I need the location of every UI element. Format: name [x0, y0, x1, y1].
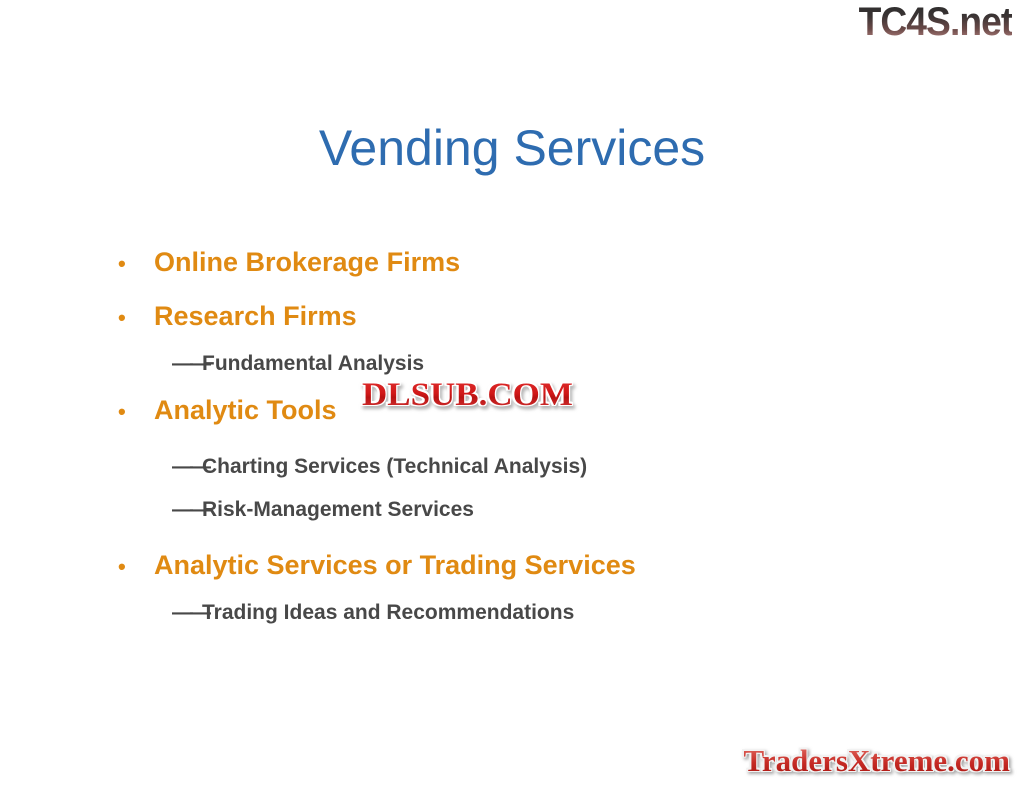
- list-item-label: Charting Services (Technical Analysis): [202, 445, 587, 488]
- bullet-dot-icon: •: [118, 386, 154, 437]
- list-item: • Analytic Services or Trading Services: [118, 540, 918, 591]
- list-item: —— Trading Ideas and Recommendations: [118, 591, 918, 634]
- bullet-dash-icon: ——: [172, 591, 202, 634]
- list-item-label: Trading Ideas and Recommendations: [202, 591, 574, 634]
- list-item: —— Charting Services (Technical Analysis…: [118, 445, 918, 488]
- bullet-dot-icon: •: [118, 238, 154, 289]
- tradersxtreme-logo: TradersXtreme.com: [743, 743, 1010, 779]
- bullet-list: • Online Brokerage Firms • Research Firm…: [118, 237, 918, 634]
- list-item-label: Analytic Services or Trading Services: [154, 540, 636, 591]
- bullet-dash-icon: ——: [172, 488, 202, 531]
- list-item-label: Online Brokerage Firms: [154, 237, 460, 288]
- page-title: Vending Services: [0, 121, 1024, 176]
- list-item-label: Analytic Tools: [154, 385, 337, 436]
- presentation-slide: TC4S.net Vending Services • Online Broke…: [0, 0, 1024, 791]
- dlsub-watermark: DLSUB.COM: [362, 377, 573, 414]
- bullet-dot-icon: •: [118, 292, 154, 343]
- list-item: —— Risk-Management Services: [118, 488, 918, 531]
- list-item: • Research Firms: [118, 291, 918, 342]
- bullet-dash-icon: ——: [172, 342, 202, 385]
- list-item-label: Risk-Management Services: [202, 488, 474, 531]
- bullet-dash-icon: ——: [172, 445, 202, 488]
- list-item: • Online Brokerage Firms: [118, 237, 918, 288]
- tc4s-logo: TC4S.net: [858, 2, 1012, 42]
- list-item-label: Research Firms: [154, 291, 357, 342]
- bullet-dot-icon: •: [118, 541, 154, 592]
